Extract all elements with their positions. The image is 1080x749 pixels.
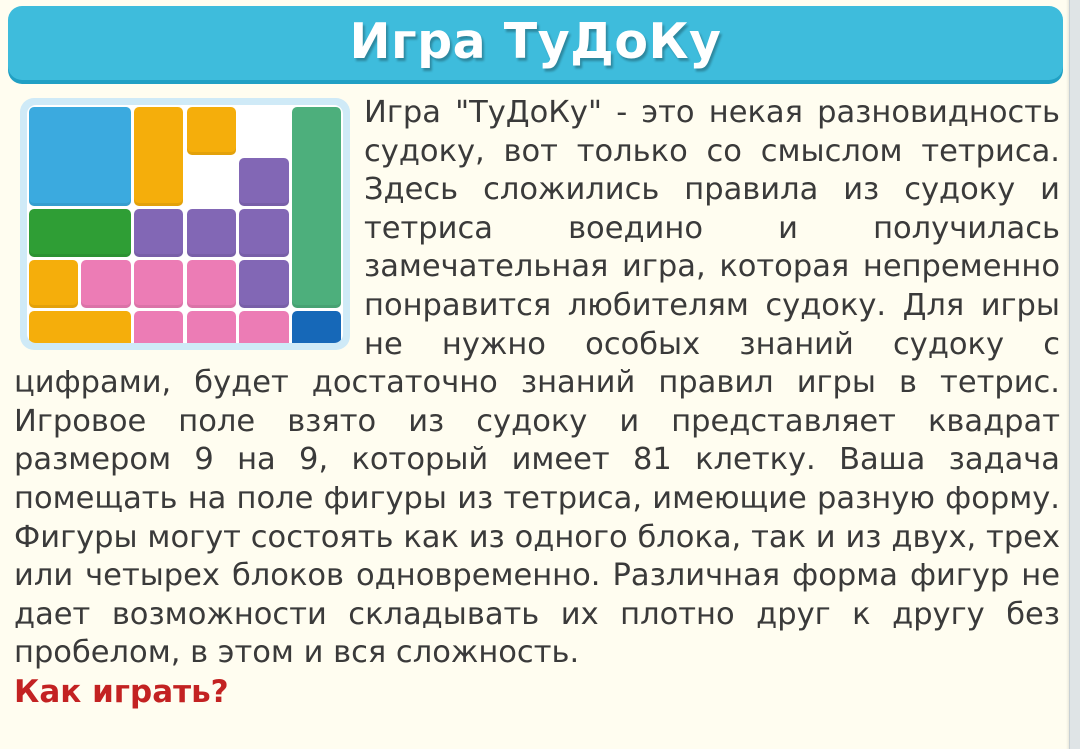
page-title: Игра ТуДоКу <box>8 10 1063 74</box>
board-block-pink <box>187 311 237 343</box>
board-block-purple <box>187 209 237 257</box>
board-block-orange <box>29 311 131 343</box>
board-block-pink <box>239 311 289 343</box>
board-block-pink <box>134 311 184 343</box>
article-content: Игра "ТуДоКу" - это некая разновидность … <box>14 94 1060 712</box>
vertical-scrollbar[interactable] <box>1069 0 1080 749</box>
board-block-purple <box>239 209 289 257</box>
board-block-pink <box>134 260 184 308</box>
board-block-orange <box>29 260 79 308</box>
board-block-teal <box>292 107 342 309</box>
next-section-heading: Как играть? <box>14 673 1060 712</box>
board-block-orange <box>187 107 237 155</box>
tudoku-gameplay-thumbnail[interactable] <box>20 98 350 350</box>
board-block-purple <box>239 158 289 206</box>
tudoku-board-preview <box>27 105 343 343</box>
board-block-orange <box>134 107 184 206</box>
board-block-darkblue <box>292 311 342 343</box>
page-header: Игра ТуДоКу <box>8 6 1063 84</box>
board-block-pink <box>81 260 131 308</box>
board-block-green <box>29 209 131 257</box>
board-block-blue <box>29 107 131 206</box>
board-block-purple <box>134 209 184 257</box>
board-block-pink <box>187 260 237 308</box>
page-root: Игра ТуДоКу Игра "ТуДоКу" - это некая ра… <box>0 0 1080 749</box>
board-block-purple <box>239 260 289 308</box>
